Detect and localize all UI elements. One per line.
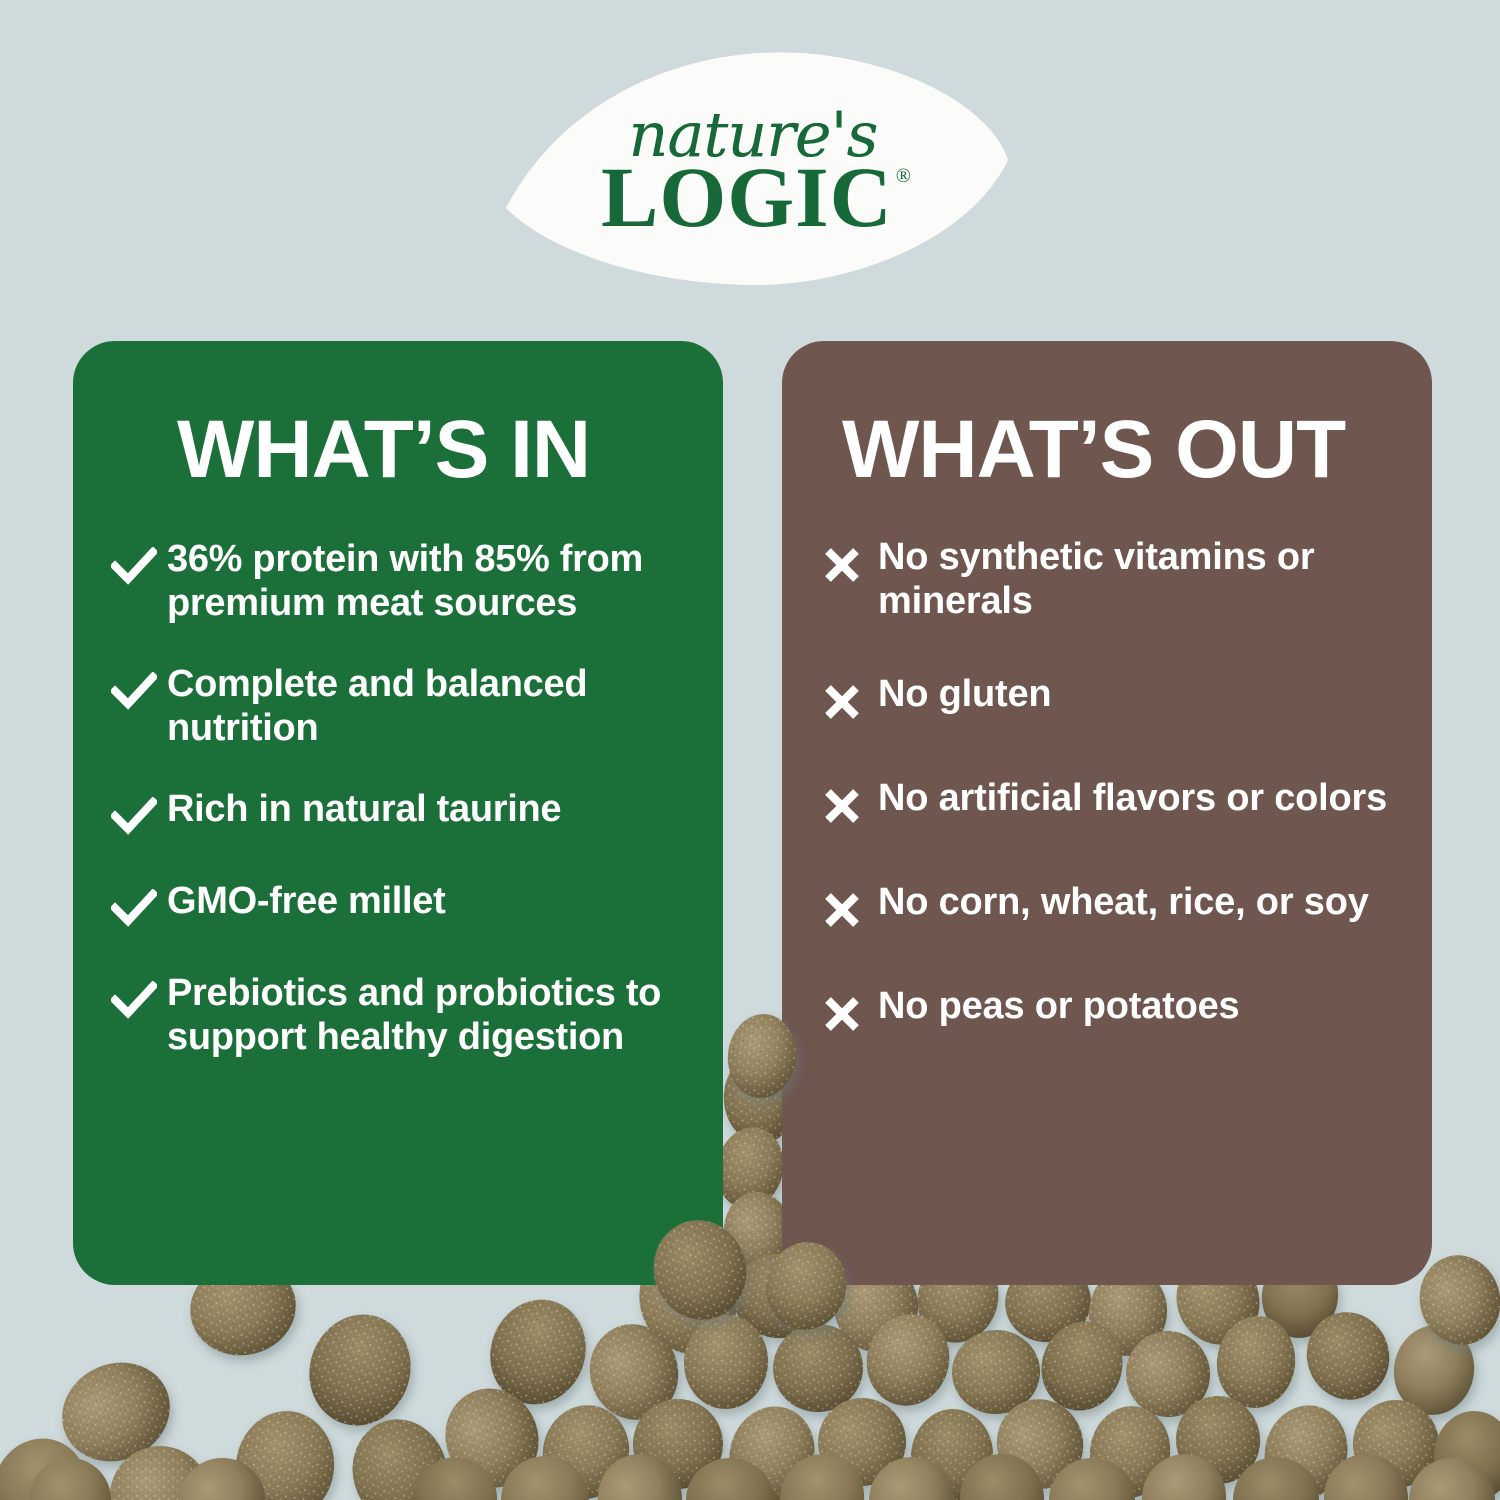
kibble-photo-foreground [0, 0, 1500, 1500]
poster-canvas: nature's LOGIC ® WHAT’S IN 36% protein w… [0, 0, 1500, 1500]
